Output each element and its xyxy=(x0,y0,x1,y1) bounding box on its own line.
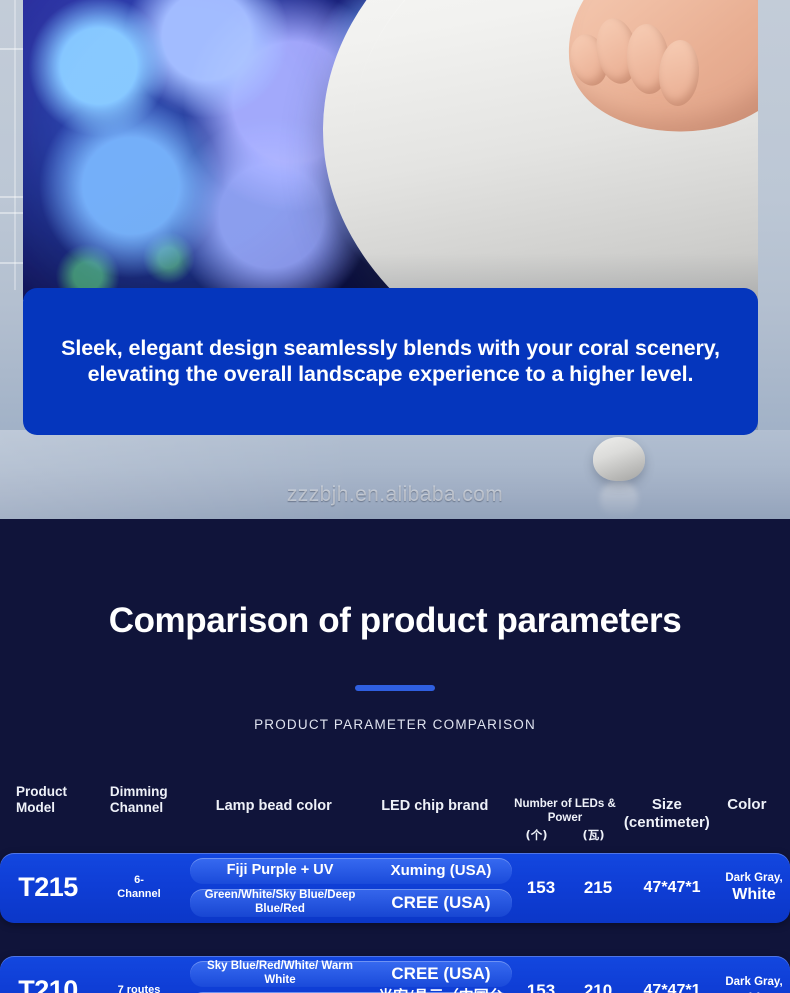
header-color: Color xyxy=(712,784,782,843)
bead-chip-pill: Fiji Purple + UV Xuming (USA) xyxy=(190,858,512,884)
header-lamp-bead-color: Lamp bead color xyxy=(186,784,362,843)
wall-seam xyxy=(0,212,24,214)
wall-seam xyxy=(0,262,24,264)
cell-color: Dark Gray, White xyxy=(718,871,790,905)
bead-chip-pill: Sky Blue/Red/White/ Warm White CREE (USA… xyxy=(190,961,512,987)
cell-bead-chip-group: Fiji Purple + UV Xuming (USA) Green/Whit… xyxy=(182,853,512,923)
bead-chip-pill: Green/White/Sky Blue/Deep Blue/Red CREE … xyxy=(190,889,512,917)
header-size: Size (centimeter) xyxy=(622,784,712,843)
header-dimming-channel: DimmingChannel xyxy=(102,784,186,843)
cell-color: Dark Gray, White xyxy=(718,975,790,993)
cell-power: 210 xyxy=(570,981,626,993)
cell-led-count: 153 xyxy=(512,981,570,993)
header-units: (个) (瓦) xyxy=(508,825,622,843)
hero-section: Sleek, elegant design seamlessly blends … xyxy=(0,0,790,519)
table-row[interactable]: T210 7 routes Sky Blue/Red/White/ Warm W… xyxy=(0,956,790,993)
wall-seam-vertical xyxy=(14,0,16,290)
header-led-chip-brand: LED chip brand xyxy=(362,784,508,843)
cell-size: 47*47*1 xyxy=(626,879,718,897)
comparison-section: Comparison of product parameters PRODUCT… xyxy=(0,519,790,993)
cell-color-line2: White xyxy=(718,885,790,905)
hero-banner: Sleek, elegant design seamlessly blends … xyxy=(23,288,758,435)
header-power-unit: (瓦) xyxy=(582,829,604,843)
cell-bead-chip-group: Sky Blue/Red/White/ Warm White CREE (USA… xyxy=(182,956,512,993)
page-title: Comparison of product parameters xyxy=(0,519,790,641)
wall-seam xyxy=(0,196,24,198)
table-row[interactable]: T215 6-Channel Fiji Purple + UV Xuming (… xyxy=(0,853,790,923)
cell-led-chip-brand: CREE (USA) xyxy=(370,964,512,984)
cell-power: 215 xyxy=(570,878,626,898)
cell-product-model: T215 xyxy=(0,872,96,903)
page-subtitle: PRODUCT PARAMETER COMPARISON xyxy=(0,717,790,732)
cell-led-chip-brand: 光宏/晶元（中国台湾） xyxy=(370,985,512,993)
cell-led-chip-brand: CREE (USA) xyxy=(370,893,512,913)
cell-lamp-bead-color: Fiji Purple + UV xyxy=(190,862,370,879)
cell-led-count: 153 xyxy=(512,878,570,898)
header-product-model: ProductModel xyxy=(8,784,102,843)
metal-knob xyxy=(593,437,645,481)
header-leds-power-label: Number of LEDs & Power xyxy=(508,798,622,825)
table-header-row: ProductModel DimmingChannel Lamp bead co… xyxy=(0,784,790,853)
header-leds-power: Number of LEDs & Power (个) (瓦) xyxy=(508,784,622,843)
comparison-table: ProductModel DimmingChannel Lamp bead co… xyxy=(0,784,790,993)
header-size-label: Size xyxy=(622,796,712,814)
cell-size: 47*47*1 xyxy=(626,982,718,993)
cell-lamp-bead-color: Green/White/Sky Blue/Deep Blue/Red xyxy=(190,889,370,915)
cell-dimming-channel: 6-Channel xyxy=(96,874,182,902)
header-count-unit: (个) xyxy=(525,829,547,843)
header-size-unit: (centimeter) xyxy=(622,814,712,832)
cell-lamp-bead-color: Sky Blue/Red/White/ Warm White xyxy=(190,960,370,986)
cell-color-line1: Dark Gray, xyxy=(718,871,790,885)
title-underline xyxy=(355,685,435,691)
cell-led-chip-brand: Xuming (USA) xyxy=(370,862,512,879)
cell-dimming-channel: 7 routes xyxy=(96,984,182,993)
product-detail-page: Sleek, elegant design seamlessly blends … xyxy=(0,0,790,993)
cell-product-model: T210 xyxy=(0,975,96,993)
cell-color-line1: Dark Gray, xyxy=(718,975,790,989)
wall-seam xyxy=(0,48,24,50)
watermark: zzzbjh.en.alibaba.com xyxy=(0,483,790,507)
hero-banner-text: Sleek, elegant design seamlessly blends … xyxy=(46,336,736,388)
